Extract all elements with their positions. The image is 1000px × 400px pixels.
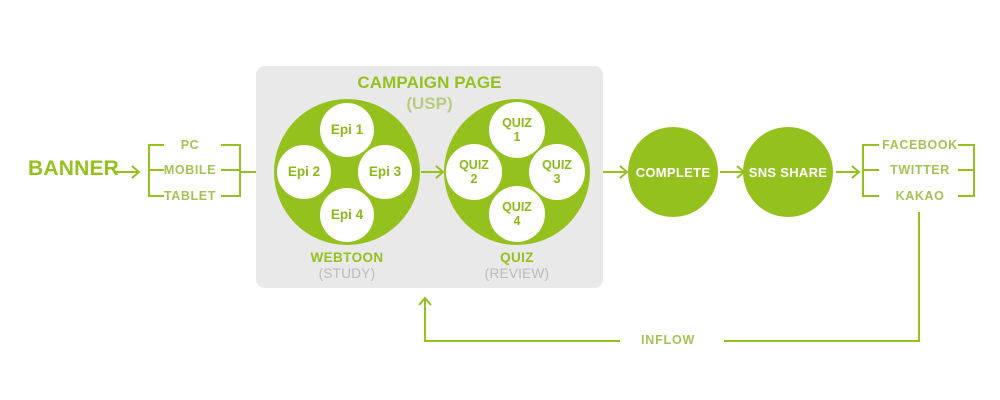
webtoon-caption: WEBTOON <box>267 250 427 266</box>
node-label: Epi 4 <box>331 208 363 222</box>
stage-label: SNS SHARE <box>749 165 828 180</box>
inflow-right-vertical <box>918 212 920 342</box>
social-bracket-right-spine <box>973 144 975 196</box>
webtoon-node-epi-4[interactable]: Epi 4 <box>320 188 374 242</box>
node-label: Epi 3 <box>369 165 401 179</box>
node-label: QUIZ 2 <box>459 158 489 186</box>
node-label: QUIZ 3 <box>542 158 572 186</box>
device-bracket-right-stub-mid <box>221 169 241 171</box>
device-label-tablet: TABLET <box>160 189 220 203</box>
webtoon-node-epi-1[interactable]: Epi 1 <box>320 103 374 157</box>
stage-label: COMPLETE <box>636 165 711 180</box>
social-label-facebook: FACEBOOK <box>874 138 966 152</box>
social-label-twitter: TWITTER <box>874 163 966 177</box>
inflow-label: INFLOW <box>641 333 695 347</box>
banner-label: BANNER <box>28 157 119 181</box>
webtoon-node-epi-3[interactable]: Epi 3 <box>358 145 412 199</box>
quiz-node-4[interactable]: QUIZ 4 <box>489 186 545 242</box>
webtoon-node-epi-2[interactable]: Epi 2 <box>277 145 331 199</box>
webtoon-subcaption: (STUDY) <box>267 266 427 282</box>
quiz-subcaption: (REVIEW) <box>437 266 597 282</box>
node-label: QUIZ 4 <box>502 200 532 228</box>
device-bracket-right-stub-bottom <box>221 195 241 197</box>
inflow-arrow-up <box>417 296 433 342</box>
quiz-node-2[interactable]: QUIZ 2 <box>446 144 502 200</box>
node-label: Epi 2 <box>288 165 320 179</box>
stage-complete-circle[interactable]: COMPLETE <box>628 127 718 217</box>
device-label-pc: PC <box>160 138 220 152</box>
device-bracket-right-stub-top <box>221 144 241 146</box>
inflow-line-left <box>424 340 620 342</box>
campaign-page-title: CAMPAIGN PAGE <box>256 72 603 93</box>
quiz-caption: QUIZ <box>437 250 597 266</box>
quiz-node-1[interactable]: QUIZ 1 <box>489 102 545 158</box>
node-label: QUIZ 1 <box>502 116 532 144</box>
arrow-quiz-to-complete <box>603 163 631 181</box>
social-label-kakao: KAKAO <box>874 189 966 203</box>
node-label: Epi 1 <box>331 123 363 137</box>
quiz-node-3[interactable]: QUIZ 3 <box>529 144 585 200</box>
arrow-sns-to-social <box>836 163 864 181</box>
stage-sns-share-circle[interactable]: SNS SHARE <box>743 127 833 217</box>
inflow-line-right <box>724 340 920 342</box>
arrow-banner-to-devices <box>116 163 142 181</box>
diagram-canvas: BANNER PC MOBILE TABLET CAMPAIGN PAGE (U… <box>0 0 1000 400</box>
device-label-mobile: MOBILE <box>160 163 220 177</box>
